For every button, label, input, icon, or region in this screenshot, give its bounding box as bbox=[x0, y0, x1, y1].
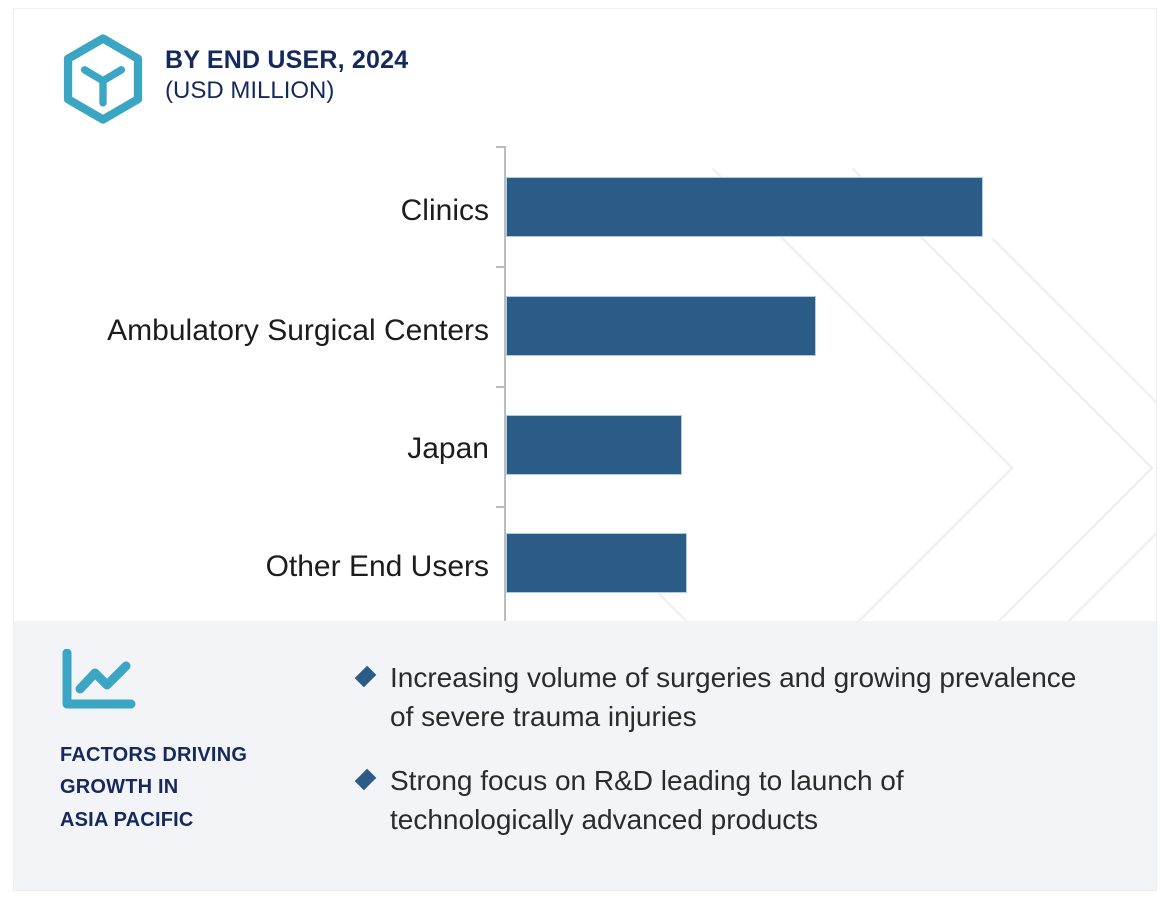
list-item: Increasing volume of surgeries and growi… bbox=[359, 659, 1118, 736]
hexagon-y-logo-icon bbox=[57, 33, 149, 125]
bar-ambulatory-surgical-centers bbox=[506, 296, 816, 356]
header-text-block: BY END USER, 2024 (USD MILLION) bbox=[165, 31, 408, 106]
bar-japan bbox=[506, 415, 682, 475]
bar-other-end-users bbox=[506, 533, 687, 593]
factors-label-line-2: GROWTH IN bbox=[60, 771, 359, 803]
category-label-clinics: Clinics bbox=[401, 196, 489, 226]
page-subtitle: (USD MILLION) bbox=[165, 76, 408, 106]
category-label-ambulatory-surgical-centers: Ambulatory Surgical Centers bbox=[107, 316, 489, 346]
axis-tick bbox=[496, 506, 506, 508]
infographic-card: BY END USER, 2024 (USD MILLION) Clinics … bbox=[13, 8, 1157, 891]
horizontal-bar-chart: Clinics Ambulatory Surgical Centers Japa… bbox=[14, 131, 1157, 631]
factors-label-line-3: ASIA PACIFIC bbox=[60, 804, 359, 836]
line-chart-trend-icon bbox=[60, 649, 138, 711]
bullet-text: Strong focus on R&D leading to launch of… bbox=[390, 762, 1090, 839]
page-title: BY END USER, 2024 bbox=[165, 45, 408, 76]
factors-panel-left: FACTORS DRIVING GROWTH IN ASIA PACIFIC bbox=[14, 621, 359, 836]
axis-tick bbox=[496, 146, 506, 148]
axis-tick bbox=[496, 386, 506, 388]
category-label-japan: Japan bbox=[407, 434, 489, 464]
factors-panel: FACTORS DRIVING GROWTH IN ASIA PACIFIC I… bbox=[14, 621, 1157, 891]
factors-panel-label: FACTORS DRIVING GROWTH IN ASIA PACIFIC bbox=[60, 739, 359, 836]
bullet-text: Increasing volume of surgeries and growi… bbox=[390, 659, 1090, 736]
factors-label-line-1: FACTORS DRIVING bbox=[60, 739, 359, 771]
list-item: Strong focus on R&D leading to launch of… bbox=[359, 762, 1118, 839]
bar-clinics bbox=[506, 177, 983, 237]
axis-tick bbox=[496, 266, 506, 268]
category-label-other-end-users: Other End Users bbox=[266, 552, 489, 582]
card-header: BY END USER, 2024 (USD MILLION) bbox=[57, 31, 408, 125]
factors-bullet-list: Increasing volume of surgeries and growi… bbox=[359, 621, 1157, 866]
